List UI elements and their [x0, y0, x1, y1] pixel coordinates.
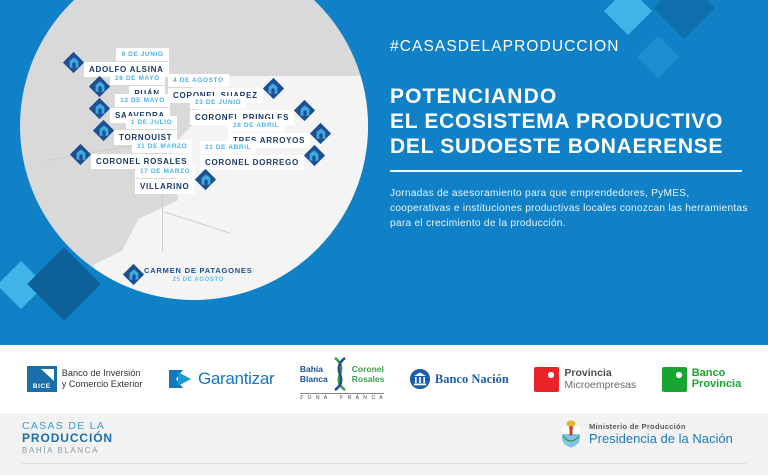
headline-line-3: DEL SUDOESTE BONAERENSE: [390, 134, 748, 159]
location-pin-house-icon: [196, 170, 215, 189]
bice-line-1: Banco de Inversión: [62, 368, 143, 379]
location-pin-house-icon: [71, 145, 90, 164]
location-pin-house-icon: [305, 146, 324, 165]
marker-town-label: CARMEN DE PATAGONES: [144, 266, 253, 275]
marker-villarino[interactable]: 17 DE MARZOVILLARINO: [135, 165, 216, 194]
zf-left-text: Bahía Blanca: [300, 364, 328, 384]
marker-date-label: 25 DE AGOSTO: [173, 277, 224, 283]
zf-sub-right: F R A N C A: [340, 395, 384, 401]
bice-mark-icon: BICE: [27, 366, 57, 392]
zf-right-line-2: Rosales: [352, 374, 385, 384]
zf-left-line-1: Bahía: [300, 364, 328, 374]
ministry-line-1: Ministerio de Producción: [589, 422, 733, 431]
marker-date-label: 17 DE MARZO: [135, 165, 195, 178]
headline-block: POTENCIANDO EL ECOSISTEMA PRODUCTIVO DEL…: [390, 84, 748, 159]
marker-carmen-de-patagones[interactable]: CARMEN DE PATAGONES 25 DE AGOSTO: [123, 265, 253, 284]
logo-provincia-microempresas[interactable]: Provincia Microempresas: [534, 367, 636, 392]
provincia-microempresas-mark-icon: [534, 367, 559, 392]
location-pin-house-icon: [124, 265, 143, 284]
logo-banco-provincia[interactable]: Banco Provincia: [662, 367, 742, 392]
house-glyph-icon: [99, 125, 109, 136]
headline-line-1: POTENCIANDO: [390, 84, 748, 109]
pm-line-1: Provincia: [564, 368, 636, 379]
ministry-line-2: Presidencia de la Nación: [589, 431, 733, 446]
footer-brand-logo[interactable]: CASAS DE LA PRODUCCIÓN BAHÍA BLANCA: [22, 420, 113, 456]
logo-garantizar[interactable]: Garantizar: [168, 368, 274, 390]
text-panel: #CASASDELAPRODUCCION POTENCIANDO EL ECOS…: [390, 38, 748, 231]
zf-right-text: Coronel Rosales: [352, 364, 385, 384]
footer-brand-line-2: PRODUCCIÓN: [22, 432, 113, 445]
marker-date-label: 31 DE MARZO: [132, 140, 192, 153]
provincia-microempresas-text: Provincia Microempresas: [564, 368, 636, 391]
marker-date-label: 4 DE AGOSTO: [168, 74, 229, 87]
zona-franca-fish-icon: [332, 357, 348, 391]
bp-line-2: Provincia: [692, 379, 742, 391]
argentina-shield-icon: [560, 420, 582, 448]
garantizar-text: Garantizar: [198, 369, 274, 389]
house-glyph-icon: [76, 149, 86, 160]
headline-divider: [390, 170, 742, 172]
location-pin-house-icon: [94, 121, 113, 140]
marker-date-label: 28 DE ABRIL: [228, 119, 284, 132]
marker-coronel-dorrego[interactable]: 21 DE ABRILCORONEL DORREGO: [200, 141, 325, 170]
banco-nacion-mark-icon: [410, 369, 430, 389]
poster-root: 9 DE JUNIOADOLFO ALSINA26 DE MAYOPUÁN4 D…: [0, 0, 768, 475]
house-glyph-icon: [69, 57, 79, 68]
location-pin-house-icon: [295, 101, 314, 120]
logo-bice[interactable]: BICE Banco de Inversión y Comercio Exter…: [27, 366, 143, 392]
decorative-diamond-cyan-top: [604, 0, 652, 35]
banco-provincia-mark-icon: [662, 367, 687, 392]
logo-zona-franca[interactable]: Bahía Blanca Coronel Rosales: [300, 357, 384, 401]
house-glyph-icon: [300, 105, 310, 116]
marker-date-label: 12 DE MAYO: [115, 94, 170, 107]
house-glyph-icon: [201, 174, 211, 185]
house-glyph-icon: [129, 269, 139, 280]
marker-town-label: VILLARINO: [135, 179, 194, 194]
logo-banco-nacion[interactable]: Banco Nación: [410, 369, 509, 389]
house-glyph-icon: [95, 103, 105, 114]
marker-date-label: 26 DE MAYO: [110, 72, 165, 85]
footer-brand-line-3: BAHÍA BLANCA: [22, 445, 113, 456]
decorative-diamond-dark-top: [653, 0, 715, 39]
house-glyph-icon: [309, 150, 319, 161]
bice-line-2: y Comercio Exterior: [62, 379, 143, 390]
footer-divider: [22, 463, 746, 464]
marker-date-label: 1 DE JULIO: [126, 116, 177, 129]
bice-mark-label: BICE: [27, 383, 57, 390]
body-copy: Jornadas de asesoramiento para que empre…: [390, 186, 748, 231]
marker-date-label: 23 DE JUNIO: [190, 96, 246, 109]
zf-left-line-2: Blanca: [300, 374, 328, 384]
sponsor-strip: BICE Banco de Inversión y Comercio Exter…: [0, 345, 768, 413]
ministry-logo[interactable]: Ministerio de Producción Presidencia de …: [560, 420, 733, 448]
house-glyph-icon: [316, 128, 326, 139]
house-glyph-icon: [95, 81, 105, 92]
garantizar-mark-icon: [168, 368, 194, 390]
house-glyph-icon: [268, 83, 278, 94]
marker-date-label: 21 DE ABRIL: [200, 141, 256, 154]
hashtag-label: #CASASDELAPRODUCCION: [390, 38, 748, 56]
location-pin-house-icon: [64, 53, 83, 72]
zf-right-line-1: Coronel: [352, 364, 385, 374]
headline-line-2: EL ECOSISTEMA PRODUCTIVO: [390, 109, 748, 134]
ministry-text: Ministerio de Producción Presidencia de …: [589, 422, 733, 446]
zf-sub-left: Z O N A: [300, 395, 329, 401]
banco-provincia-text: Banco Provincia: [692, 368, 742, 391]
marker-date-label: 9 DE JUNIO: [116, 48, 168, 61]
hero-section: 9 DE JUNIOADOLFO ALSINA26 DE MAYOPUÁN4 D…: [0, 0, 768, 345]
pm-line-2: Microempresas: [564, 379, 636, 391]
banco-nacion-text: Banco Nación: [435, 372, 509, 387]
bice-text: Banco de Inversión y Comercio Exterior: [62, 368, 143, 390]
